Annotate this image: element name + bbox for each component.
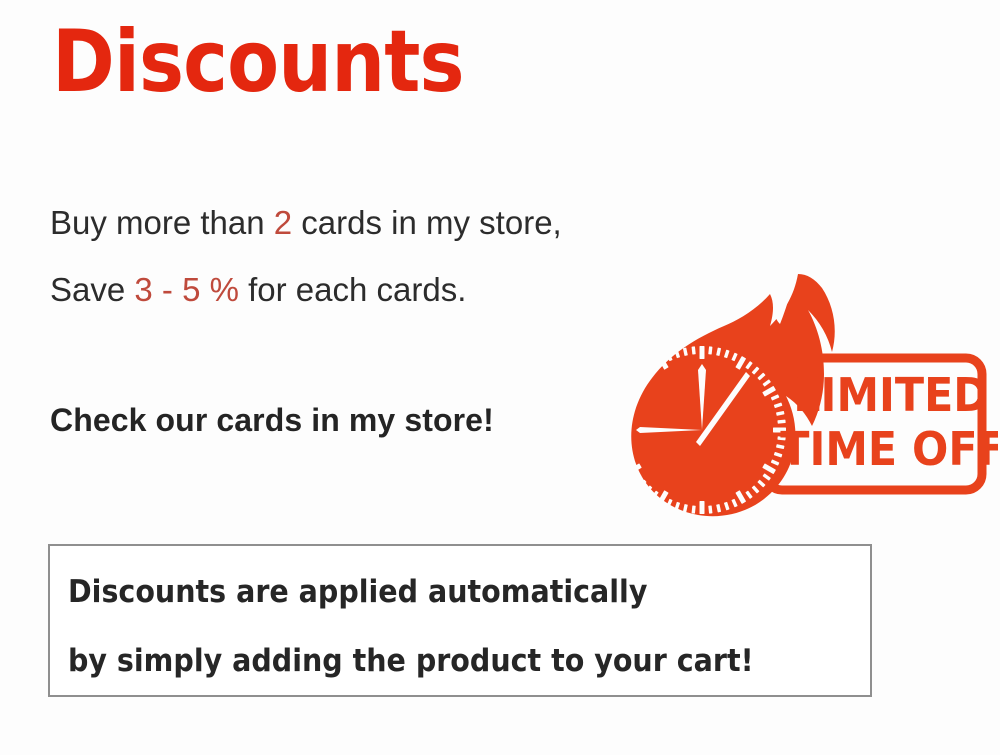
auto-discount-note-line-1: Discounts are applied automatically xyxy=(68,573,647,611)
badge-line-2: TIME OFFER xyxy=(780,424,998,477)
offer-line-1-prefix: Buy more than xyxy=(50,204,274,241)
flame-clock-badge-icon: LIMITED TIME OFFER xyxy=(598,268,998,518)
offer-line-2-highlight: 3 - 5 % xyxy=(134,271,239,308)
offer-line-2-prefix: Save xyxy=(50,271,134,308)
auto-discount-note-line-2: by simply adding the product to your car… xyxy=(68,642,754,680)
offer-line-1-suffix: cards in my store, xyxy=(292,204,562,241)
offer-line-2-suffix: for each cards. xyxy=(239,271,466,308)
limited-time-offer-graphic: LIMITED TIME OFFER xyxy=(598,268,998,518)
page-title: Discounts xyxy=(52,14,464,110)
badge-line-1: LIMITED xyxy=(793,370,989,423)
offer-line-2: Save 3 - 5 % for each cards. xyxy=(50,270,466,310)
promo-banner: Discounts Buy more than 2 cards in my st… xyxy=(0,0,1000,755)
auto-discount-note-box: Discounts are applied automatically by s… xyxy=(48,544,872,697)
store-call-to-action: Check our cards in my store! xyxy=(50,400,494,440)
offer-line-1-highlight: 2 xyxy=(274,204,292,241)
offer-line-1: Buy more than 2 cards in my store, xyxy=(50,203,562,243)
